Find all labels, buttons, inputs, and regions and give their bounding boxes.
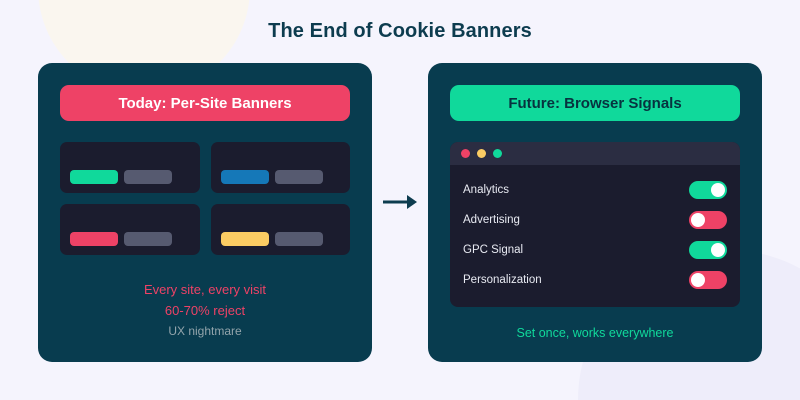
toggle-label: Advertising (463, 214, 520, 226)
mini-card-buttons (221, 170, 323, 184)
toggle-row-advertising[interactable]: Advertising (463, 205, 727, 235)
advertising-toggle[interactable] (689, 211, 727, 229)
reject-pill[interactable] (124, 232, 172, 246)
mini-card-buttons (70, 170, 172, 184)
toggle-knob (691, 213, 705, 227)
toggle-row-analytics[interactable]: Analytics (463, 175, 727, 205)
mini-banner-card[interactable] (60, 142, 200, 193)
browser-window-mock: Analytics Advertising GPC Signal (450, 142, 740, 307)
toggle-label: Analytics (463, 184, 509, 196)
toggle-row-gpc-signal[interactable]: GPC Signal (463, 235, 727, 265)
today-notes: Every site, every visit 60-70% reject UX… (60, 279, 350, 342)
accept-pill[interactable] (70, 170, 118, 184)
toggle-label: Personalization (463, 274, 542, 286)
mini-banner-card[interactable] (60, 204, 200, 255)
accept-pill[interactable] (221, 232, 269, 246)
toggle-row-personalization[interactable]: Personalization (463, 265, 727, 295)
mini-banner-card[interactable] (211, 142, 351, 193)
panel-today: Today: Per-Site Banners (38, 63, 372, 362)
infographic-canvas: The End of Cookie Banners Today: Per-Sit… (0, 0, 800, 400)
mini-banner-card[interactable] (211, 204, 351, 255)
toggle-knob (691, 273, 705, 287)
gpc-signal-toggle[interactable] (689, 241, 727, 259)
toggle-knob (711, 243, 725, 257)
note-line: Every site, every visit (60, 279, 350, 300)
mini-banner-card-grid (60, 142, 350, 255)
mini-card-buttons (221, 232, 323, 246)
maximize-dot[interactable] (493, 149, 502, 158)
accept-pill[interactable] (221, 170, 269, 184)
reject-pill[interactable] (124, 170, 172, 184)
toggle-label: GPC Signal (463, 244, 523, 256)
future-footnote: Set once, works everywhere (450, 326, 740, 340)
note-line: UX nightmare (60, 321, 350, 342)
mini-card-buttons (70, 232, 172, 246)
panel-future: Future: Browser Signals Analytics Advert… (428, 63, 762, 362)
toggle-knob (711, 183, 725, 197)
reject-pill[interactable] (275, 232, 323, 246)
personalization-toggle[interactable] (689, 271, 727, 289)
note-line: 60-70% reject (60, 300, 350, 321)
close-dot[interactable] (461, 149, 470, 158)
badge-today: Today: Per-Site Banners (60, 85, 350, 121)
page-title: The End of Cookie Banners (0, 20, 800, 43)
accept-pill[interactable] (70, 232, 118, 246)
minimize-dot[interactable] (477, 149, 486, 158)
badge-future: Future: Browser Signals (450, 85, 740, 121)
privacy-settings-list: Analytics Advertising GPC Signal (450, 165, 740, 307)
browser-titlebar (450, 142, 740, 165)
reject-pill[interactable] (275, 170, 323, 184)
analytics-toggle[interactable] (689, 181, 727, 199)
arrow-right-icon (383, 193, 417, 211)
